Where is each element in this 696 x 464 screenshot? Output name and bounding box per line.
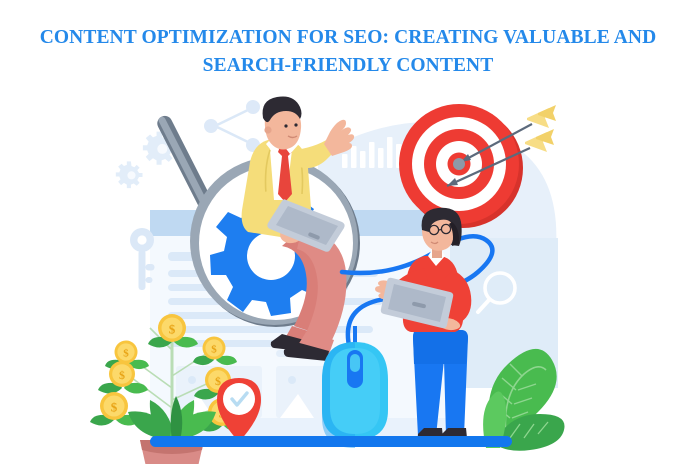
page-title-line-2: SEARCH-FRIENDLY CONTENT bbox=[0, 52, 696, 80]
ground-bar bbox=[150, 436, 512, 447]
seo-illustration: $ $ $ bbox=[0, 88, 696, 464]
svg-text:$: $ bbox=[169, 322, 176, 337]
svg-text:$: $ bbox=[111, 400, 118, 415]
svg-text:$: $ bbox=[215, 374, 221, 388]
svg-text:$: $ bbox=[119, 368, 125, 382]
share-network-icon bbox=[204, 100, 260, 152]
illustration-page: CONTENT OPTIMIZATION FOR SEO: CREATING V… bbox=[0, 0, 696, 464]
svg-text:$: $ bbox=[123, 348, 129, 360]
svg-text:$: $ bbox=[211, 344, 217, 356]
page-title-line-1: CONTENT OPTIMIZATION FOR SEO: CREATING V… bbox=[0, 24, 696, 52]
page-title: CONTENT OPTIMIZATION FOR SEO: CREATING V… bbox=[0, 24, 696, 80]
